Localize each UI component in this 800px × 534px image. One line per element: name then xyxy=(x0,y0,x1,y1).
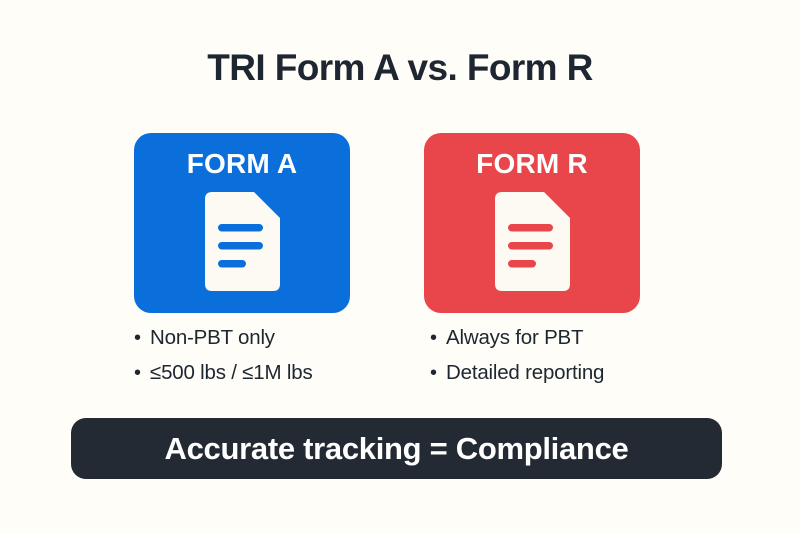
comparison-cards: FORM A FORM R xyxy=(134,133,640,313)
list-item-label: Detailed reporting xyxy=(446,363,604,384)
card-form-r: FORM R xyxy=(424,133,640,313)
list-item: • Detailed reporting xyxy=(430,363,680,384)
bullets-row: • Non-PBT only • ≤500 lbs / ≤1M lbs • Al… xyxy=(134,328,680,397)
document-icon xyxy=(495,192,570,291)
card-form-a-label: FORM A xyxy=(187,150,298,178)
page-title: TRI Form A vs. Form R xyxy=(0,48,800,89)
list-item-label: Non-PBT only xyxy=(150,328,275,349)
list-item: • Always for PBT xyxy=(430,328,680,349)
card-form-r-label: FORM R xyxy=(476,150,588,178)
list-item-label: ≤500 lbs / ≤1M lbs xyxy=(150,363,312,384)
document-icon xyxy=(205,192,280,291)
callout-banner-text: Accurate tracking = Compliance xyxy=(165,433,629,464)
bullet-dot-icon: • xyxy=(430,363,437,383)
list-item-label: Always for PBT xyxy=(446,328,583,349)
list-item: • ≤500 lbs / ≤1M lbs xyxy=(134,363,384,384)
bullets-form-r: • Always for PBT • Detailed reporting xyxy=(430,328,680,397)
bullet-dot-icon: • xyxy=(430,328,437,348)
callout-banner: Accurate tracking = Compliance xyxy=(71,418,722,479)
bullet-dot-icon: • xyxy=(134,363,141,383)
list-item: • Non-PBT only xyxy=(134,328,384,349)
bullets-form-a: • Non-PBT only • ≤500 lbs / ≤1M lbs xyxy=(134,328,384,397)
infographic-canvas: TRI Form A vs. Form R FORM A FORM R xyxy=(0,0,800,534)
bullet-dot-icon: • xyxy=(134,328,141,348)
card-form-a: FORM A xyxy=(134,133,350,313)
